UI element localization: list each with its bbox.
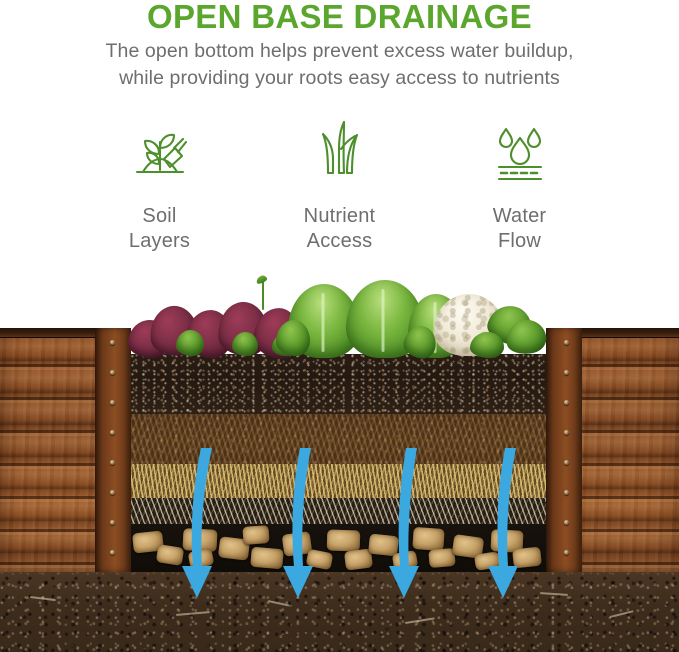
water-flow-arrow-1	[176, 448, 222, 606]
feature-label-line-1: Soil	[142, 205, 176, 227]
raised-bed-illustration	[0, 258, 679, 652]
water-flow-arrow-2	[278, 448, 324, 606]
green-lettuce-accent-2	[232, 332, 258, 356]
grass-blades-icon	[303, 112, 377, 192]
cauliflower-leaf-3	[470, 332, 504, 358]
feature-water-flow: Water Flow	[430, 112, 610, 254]
subtitle-line-1: The open bottom helps prevent excess wat…	[106, 40, 574, 62]
feature-nutrient-access: Nutrient Access	[250, 112, 430, 254]
feature-label-line-1: Water	[493, 205, 547, 227]
plant-row	[0, 258, 679, 368]
sprout-leaf-1	[255, 274, 268, 285]
page-subtitle: The open bottom helps prevent excess wat…	[0, 38, 679, 92]
feature-label-nutrient-access: Nutrient Access	[304, 204, 376, 254]
green-lettuce-accent-1	[176, 330, 204, 356]
feature-label-water-flow: Water Flow	[493, 204, 547, 254]
feature-label-line-2: Flow	[498, 230, 541, 252]
water-flow-arrow-4	[482, 448, 528, 606]
water-flow-arrow-3	[382, 448, 428, 606]
header-section: OPEN BASE DRAINAGE The open bottom helps…	[0, 0, 679, 112]
feature-label-line-2: Access	[307, 230, 373, 252]
feature-label-soil-layers: Soil Layers	[129, 204, 190, 254]
water-droplets-icon	[483, 112, 557, 192]
plant-shovel-icon	[123, 112, 197, 192]
feature-label-line-2: Layers	[129, 230, 190, 252]
feature-row: Soil Layers Nutrient Access	[0, 112, 679, 260]
page-title: OPEN BASE DRAINAGE	[0, 0, 679, 34]
feature-label-line-1: Nutrient	[304, 205, 376, 227]
subtitle-line-2: while providing your roots easy access t…	[119, 67, 560, 89]
feature-soil-layers: Soil Layers	[70, 112, 250, 254]
cabbage-outer-leaf-1	[276, 320, 310, 356]
sprout-stem-1	[262, 280, 264, 310]
ground-soil-layer	[0, 570, 679, 652]
